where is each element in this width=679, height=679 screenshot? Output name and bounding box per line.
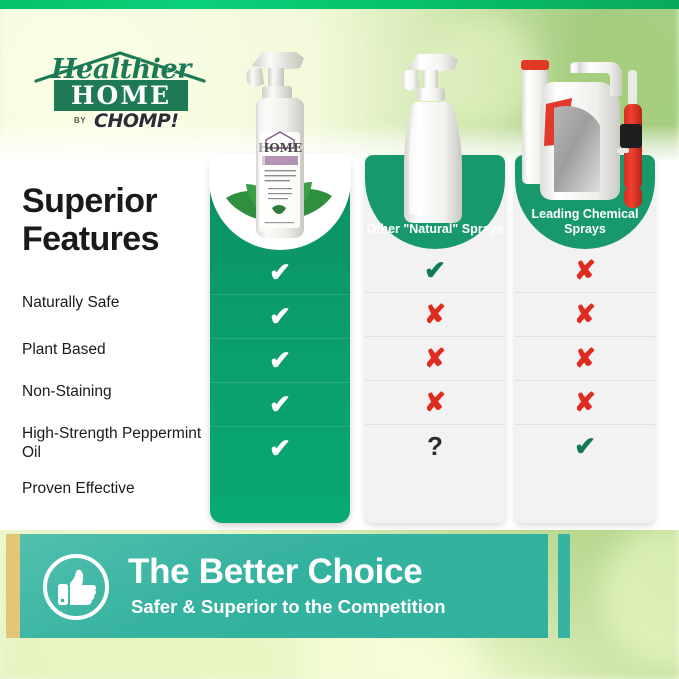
cross-icon: ✘	[424, 299, 446, 330]
brand-home-box: HOME	[54, 80, 188, 111]
column-header-label: Other "Natural" Sprays	[367, 222, 504, 237]
cell-mark: ✘	[365, 381, 505, 425]
feature-label-4: Proven Effective	[22, 480, 212, 499]
cross-icon: ✘	[574, 255, 596, 286]
brand-by-label: BY	[74, 116, 86, 125]
feature-label-3: High-Strength Peppermint Oil	[22, 425, 212, 463]
cell-mark: ✘	[515, 381, 655, 425]
check-icon: ✔	[269, 433, 291, 464]
cell-mark: ✔	[515, 425, 655, 468]
cell-mark: ✘	[515, 337, 655, 381]
check-icon: ✔	[269, 345, 291, 376]
check-icon: ✔	[574, 431, 596, 462]
cross-icon: ✘	[424, 343, 446, 374]
column-header-label: Leading Chemical Sprays	[515, 207, 655, 236]
check-icon: ✔	[269, 389, 291, 420]
cross-icon: ✘	[424, 387, 446, 418]
cell-mark: ✔	[210, 251, 350, 295]
cell-mark: ✔	[210, 383, 350, 427]
brand-parent-name: CHOMP!	[94, 110, 179, 132]
brand-logo: Healthier HOME BY CHOMP!	[30, 32, 210, 140]
check-icon: ✔	[269, 301, 291, 332]
bokeh-blob	[430, 18, 540, 128]
feature-label-0: Naturally Safe	[22, 294, 212, 313]
cross-icon: ✘	[574, 387, 596, 418]
cell-mark: ✘	[515, 249, 655, 293]
cell-mark: ✘	[365, 293, 505, 337]
cell-mark: ✔	[210, 295, 350, 339]
cell-mark: ✘	[515, 293, 655, 337]
check-icon: ✔	[424, 255, 446, 286]
banner-gold-accent	[6, 534, 20, 638]
feature-label-1: Plant Based	[22, 341, 212, 360]
banner-title: The Better Choice	[128, 552, 422, 592]
cross-icon: ✘	[574, 299, 596, 330]
cell-mark: ✔	[210, 339, 350, 383]
page-title: Superior Features	[22, 182, 222, 258]
column-cells: ✔ ✘ ✘ ✘ ?	[365, 249, 505, 468]
column-header-cap: Leading Chemical Sprays	[515, 155, 655, 249]
cell-mark: ?	[365, 425, 505, 468]
column-cells: ✘ ✘ ✘ ✘ ✔	[515, 249, 655, 468]
column-cells: ✔ ✔ ✔ ✔ ✔	[210, 251, 350, 470]
question-icon: ?	[427, 431, 443, 462]
cell-mark: ✔	[365, 249, 505, 293]
banner-side-bar	[558, 534, 570, 638]
top-accent-bar	[0, 0, 679, 9]
cross-icon: ✘	[574, 343, 596, 374]
cell-mark: ✘	[365, 337, 505, 381]
feature-label-2: Non-Staining	[22, 383, 212, 402]
banner-subtitle: Safer & Superior to the Competition	[131, 596, 446, 618]
cell-mark: ✔	[210, 427, 350, 470]
check-icon: ✔	[269, 257, 291, 288]
column-header-cap: Other "Natural" Sprays	[365, 155, 505, 249]
brand-main-word: HOME	[54, 80, 188, 111]
